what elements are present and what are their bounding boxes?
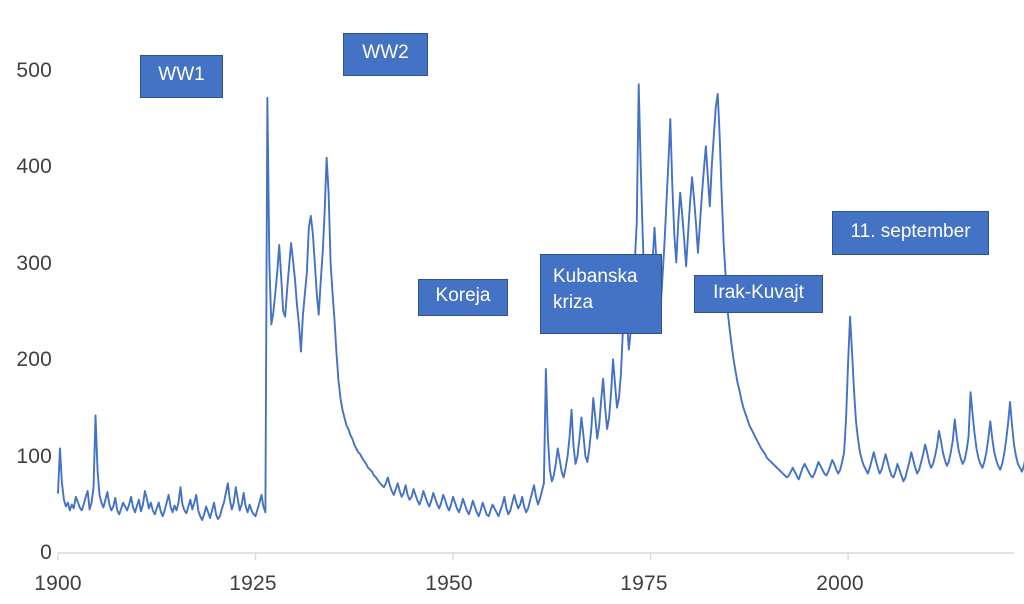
xtick-label-2000: 2000 [800,572,880,596]
annotation-koreja[interactable]: Koreja [418,279,508,316]
ytick-label-0: 0 [0,541,52,565]
annotation-ww2[interactable]: WW2 [343,33,428,76]
xtick-label-1975: 1975 [604,572,684,596]
annotation-ww1-label: WW1 [151,62,212,88]
xtick-label-1950: 1950 [409,572,489,596]
annotation-irak-kuvajt-label: Irak-Kuvajt [705,280,812,306]
ytick-label-500: 500 [0,59,52,83]
chart-axes [58,553,1014,560]
xtick-label-1925: 1925 [213,572,293,596]
ytick-label-100: 100 [0,445,52,469]
annotation-11-september[interactable]: 11. september [832,211,989,255]
xtick-label-1900: 1900 [18,572,98,596]
annotation-ww2-label: WW2 [354,40,417,66]
ytick-label-400: 400 [0,155,52,179]
annotation-ww1[interactable]: WW1 [140,55,223,98]
annotation-kubanska-kriza[interactable]: Kubanska kriza [540,254,662,334]
chart-container: 500 400 300 200 100 0 1900 1925 1950 197… [0,0,1024,604]
annotation-kubanska-kriza-label-line1: Kubanska [553,264,651,290]
ytick-label-200: 200 [0,348,52,372]
ytick-label-300: 300 [0,252,52,276]
annotation-koreja-label: Koreja [429,283,497,309]
annotation-irak-kuvajt[interactable]: Irak-Kuvajt [694,275,823,313]
annotation-kubanska-kriza-label-line2: kriza [553,290,651,316]
annotation-11-september-label: 11. september [843,219,978,245]
